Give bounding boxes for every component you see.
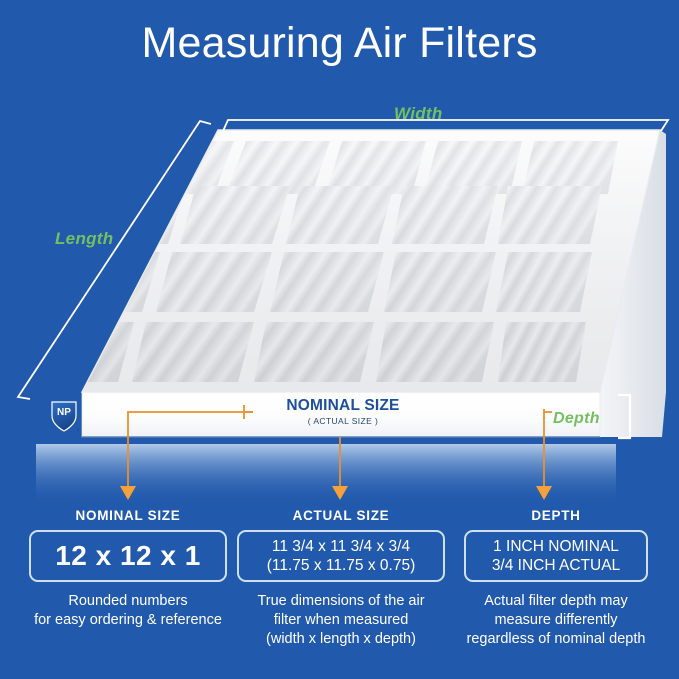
length-dimension-bracket <box>18 121 211 399</box>
filter-pleat-lattice <box>14 130 660 392</box>
callout-depth-heading: DEPTH <box>446 508 666 523</box>
filter-side-face <box>600 130 666 437</box>
callout-actual-value-decimal: (11.75 x 11.75 x 0.75) <box>267 556 416 575</box>
callout-nominal-size: NOMINAL SIZE 12 x 12 x 1 Rounded numbers… <box>17 508 239 630</box>
edge-band-label: NOMINAL SIZE ( ACTUAL SIZE ) <box>258 398 428 425</box>
callout-depth: DEPTH 1 INCH NOMINAL 3/4 INCH ACTUAL Act… <box>446 508 666 649</box>
callout-actual-box: 11 3/4 x 11 3/4 x 3/4 (11.75 x 11.75 x 0… <box>237 530 445 582</box>
np-shield-logo: NP <box>52 402 79 431</box>
caption-line: Actual filter depth may <box>446 592 666 611</box>
callout-nominal-caption: Rounded numbers for easy ordering & refe… <box>17 592 239 630</box>
depth-label: Depth <box>553 410 600 428</box>
caption-line: True dimensions of the air <box>233 592 449 611</box>
depth-dimension-bracket <box>618 395 630 438</box>
width-label: Width <box>394 104 443 124</box>
callout-nominal-heading: NOMINAL SIZE <box>17 508 239 523</box>
caption-line: regardless of nominal depth <box>446 630 666 649</box>
caption-line: for easy ordering & reference <box>17 611 239 630</box>
callout-depth-caption: Actual filter depth may measure differen… <box>446 592 666 649</box>
caption-line: (width x length x depth) <box>233 630 449 649</box>
filter-reflection <box>36 444 616 506</box>
callout-depth-value-actual: 3/4 INCH ACTUAL <box>492 556 620 575</box>
callout-actual-heading: ACTUAL SIZE <box>233 508 449 523</box>
callout-depth-value-nominal: 1 INCH NOMINAL <box>493 537 619 556</box>
caption-line: filter when measured <box>233 611 449 630</box>
callout-depth-box: 1 INCH NOMINAL 3/4 INCH ACTUAL <box>464 530 648 582</box>
infographic-canvas: Measuring Air Filters <box>0 0 679 679</box>
callout-actual-value-fraction: 11 3/4 x 11 3/4 x 3/4 <box>272 537 410 556</box>
filter-top-face <box>82 130 660 392</box>
callout-arrowheads <box>120 486 552 500</box>
width-dimension-bracket <box>223 120 668 131</box>
svg-text:NP: NP <box>57 407 71 418</box>
callout-nominal-box: 12 x 12 x 1 <box>29 530 227 582</box>
caption-line: Rounded numbers <box>17 592 239 611</box>
edge-band-nominal-size: NOMINAL SIZE <box>258 398 428 414</box>
page-title: Measuring Air Filters <box>0 22 679 65</box>
callout-actual-size: ACTUAL SIZE 11 3/4 x 11 3/4 x 3/4 (11.75… <box>233 508 449 649</box>
callout-actual-caption: True dimensions of the air filter when m… <box>233 592 449 649</box>
callout-nominal-value: 12 x 12 x 1 <box>55 540 201 572</box>
length-label: Length <box>55 229 113 249</box>
caption-line: measure differently <box>446 611 666 630</box>
edge-band-actual-size: ( ACTUAL SIZE ) <box>258 417 428 426</box>
